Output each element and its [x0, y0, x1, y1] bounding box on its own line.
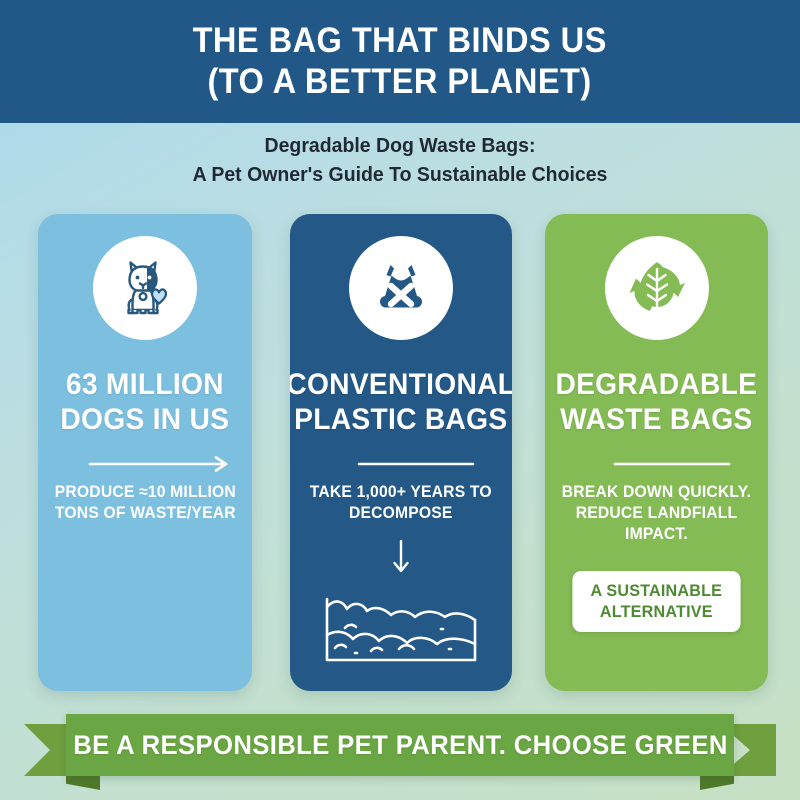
icon-circle-2	[349, 236, 453, 340]
card-3-title-line-2: WASTE BAGS	[556, 402, 758, 437]
ribbon-banner: BE A RESPONSIBLE PET PARENT. CHOOSE GREE…	[66, 714, 734, 776]
header-title-line-2: (TO A BETTER PLANET)	[208, 62, 592, 103]
card-2-title-line-1: CONVENTIONAL	[290, 367, 512, 402]
badge-line-1: A SUSTAINABLE	[591, 580, 723, 601]
card-dogs-in-us[interactable]: 63 MILLION DOGS IN US PRODUCE ≈10 MILLIO…	[38, 214, 252, 691]
arrow-down-icon	[389, 538, 413, 578]
card-3-subtext-line-2: REDUCE LANDFIALL IMPACT.	[556, 503, 756, 545]
card-1-divider	[85, 454, 205, 476]
plastic-bag-crossed-out-icon	[364, 251, 438, 325]
ribbon-text: BE A RESPONSIBLE PET PARENT. CHOOSE GREE…	[73, 730, 728, 761]
card-1-title: 63 MILLION DOGS IN US	[61, 367, 230, 438]
card-1-title-line-2: DOGS IN US	[61, 402, 230, 437]
card-2-title: CONVENTIONAL PLASTIC BAGS	[290, 367, 512, 438]
divider-line-icon	[341, 454, 491, 474]
card-1-subtext-line-2: TONS OF WASTE/YEAR	[54, 503, 235, 524]
card-3-divider	[597, 454, 717, 476]
card-conventional-plastic-bags[interactable]: CONVENTIONAL PLASTIC BAGS TAKE 1,000+ YE…	[290, 214, 512, 691]
landfill-illustration	[321, 591, 481, 667]
card-3-subtext: BREAK DOWN QUICKLY. REDUCE LANDFIALL IMP…	[551, 482, 763, 545]
header-title-line-1: THE BAG THAT BINDS US	[193, 21, 607, 62]
card-3-title-line-1: DEGRADABLE	[556, 367, 758, 402]
card-2-down-arrow	[389, 538, 413, 583]
ribbon-fold-right	[700, 776, 734, 790]
card-1-subtext-line-1: PRODUCE ≈10 MILLION	[54, 482, 235, 503]
icon-circle-3	[605, 236, 709, 340]
leaf-recycle-icon	[619, 250, 695, 326]
card-3-subtext-line-1: BREAK DOWN QUICKLY.	[556, 482, 756, 503]
arrow-right-icon	[85, 454, 235, 474]
card-1-title-line-1: 63 MILLION	[61, 367, 230, 402]
header-band: THE BAG THAT BINDS US (TO A BETTER PLANE…	[0, 0, 800, 123]
card-degradable-waste-bags[interactable]: DEGRADABLE WASTE BAGS BREAK DOWN QUICKLY…	[545, 214, 768, 691]
card-2-title-line-2: PLASTIC BAGS	[290, 402, 512, 437]
subtitle-line-1: Degradable Dog Waste Bags:	[20, 132, 780, 161]
card-3-title: DEGRADABLE WASTE BAGS	[556, 367, 758, 438]
card-2-subtext: TAKE 1,000+ YEARS TO DECOMPOSE	[304, 482, 497, 524]
dog-with-heart-icon	[109, 252, 181, 324]
badge-line-2: ALTERNATIVE	[591, 601, 723, 622]
card-2-landfill-art	[321, 591, 481, 672]
icon-circle-1	[93, 236, 197, 340]
card-2-subtext-line-1: TAKE 1,000+ YEARS TO	[310, 482, 492, 503]
subtitle-line-2: A Pet Owner's Guide To Sustainable Choic…	[20, 161, 780, 190]
infographic-poster: THE BAG THAT BINDS US (TO A BETTER PLANE…	[0, 0, 800, 800]
sustainable-alternative-badge[interactable]: A SUSTAINABLE ALTERNATIVE	[573, 571, 741, 632]
divider-line-icon	[597, 454, 747, 474]
card-2-subtext-line-2: DECOMPOSE	[310, 503, 492, 524]
card-1-subtext: PRODUCE ≈10 MILLION TONS OF WASTE/YEAR	[49, 482, 242, 524]
subtitle-block: Degradable Dog Waste Bags: A Pet Owner's…	[0, 132, 800, 189]
ribbon-fold-left	[66, 776, 100, 790]
card-2-divider	[341, 454, 461, 476]
cards-row: 63 MILLION DOGS IN US PRODUCE ≈10 MILLIO…	[0, 214, 800, 691]
footer-ribbon: BE A RESPONSIBLE PET PARENT. CHOOSE GREE…	[0, 714, 800, 786]
